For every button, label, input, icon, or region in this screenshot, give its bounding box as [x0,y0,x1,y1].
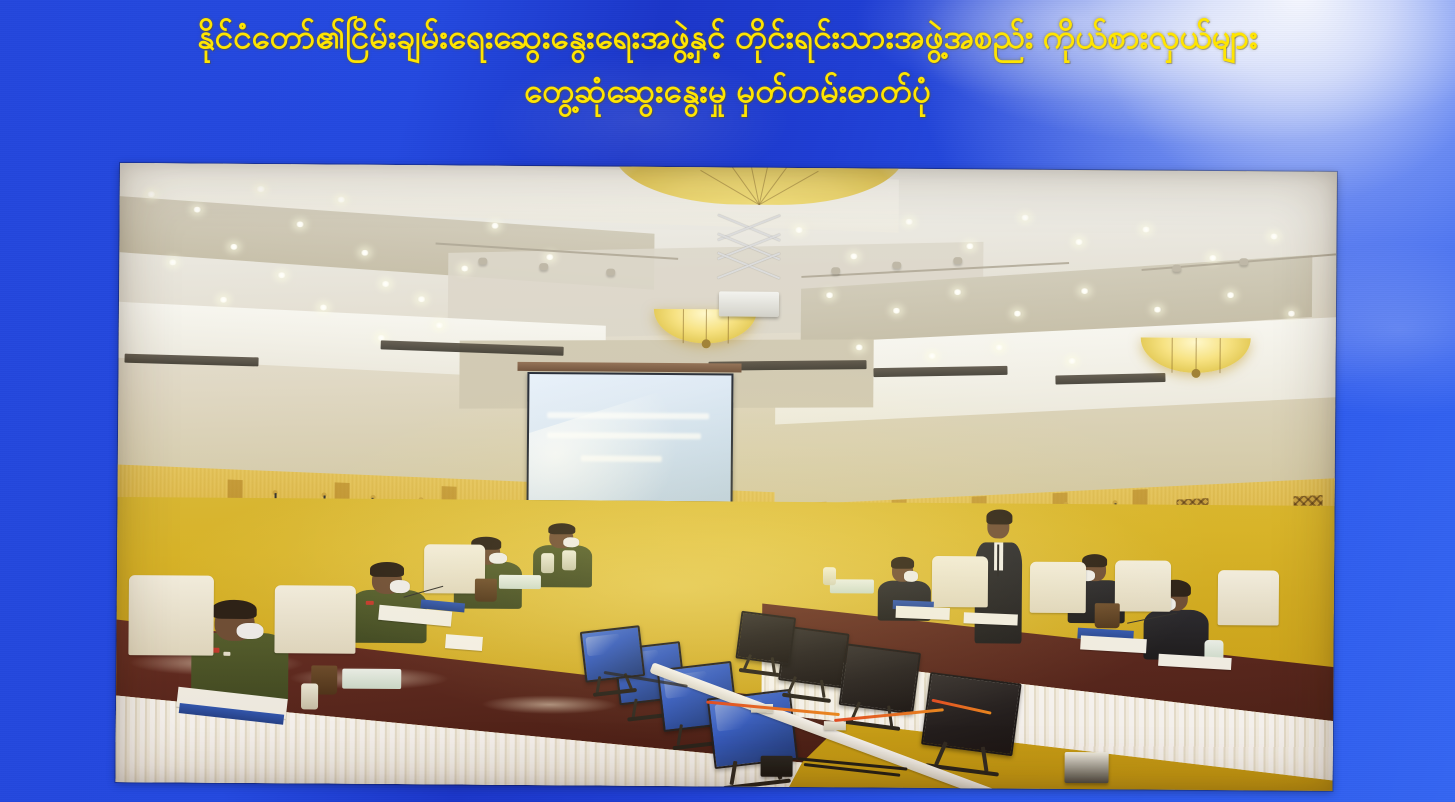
face-mask [563,537,579,547]
poster-root: နိုင်ငံတော်၏ငြိမ်းချမ်းရေးဆွေးနွေးရေးအဖွ… [0,0,1455,802]
chair [129,575,215,656]
face-mask [389,580,410,593]
water-bottle [823,567,837,586]
tissue-box [830,579,874,593]
chair [1029,562,1085,613]
dome-lamp-spokes [613,163,906,206]
pendant-chandelier-right [1141,338,1251,373]
face-mask [489,552,508,563]
track-spotlight [1172,265,1181,272]
title-line-1: နိုင်ငံတော်၏ငြိမ်းချမ်းရေးဆွေးနွေးရေးအဖွ… [0,16,1455,58]
face-mask [237,622,264,639]
face-mask [904,571,918,581]
downlight [491,223,500,229]
downlight [336,197,345,203]
downlight [995,344,1004,350]
floor-cable-junction [824,722,846,731]
downlight [892,307,901,313]
downlight [1020,214,1029,220]
downlight [1142,226,1151,232]
downlight [168,259,177,265]
track-spotlight [831,267,840,274]
ceiling-projector [719,292,779,317]
thermos-mug [1095,603,1120,628]
chair [275,585,356,654]
track-spotlight [478,257,487,264]
track-spotlight [539,263,548,270]
page-title: နိုင်ငံတော်၏ငြိမ်းချမ်းရေးဆွေးနွေးရေးအဖွ… [0,16,1455,111]
downlight [855,344,864,350]
equipment-case [1065,752,1109,783]
downlight [825,292,834,298]
monitor-blue-4 [580,625,643,697]
chair [1115,560,1171,611]
meeting-photograph [115,163,1337,791]
downlight [147,191,156,197]
title-line-2: တွေ့ဆုံဆွေးနွေးမှု မှတ်တမ်းဓာတ်ပုံ [0,70,1455,112]
tissue-box [499,574,540,589]
chair [1218,570,1279,626]
projection-screen [526,371,733,503]
tissue-box [343,669,402,689]
photo-scene [115,163,1337,791]
water-bottle [562,550,576,570]
track-spotlight [953,257,962,264]
projector-scissor-lift [715,223,783,316]
downlight [1080,288,1089,294]
track-spotlight [606,268,615,275]
dome-pendant-lamp [613,163,906,206]
downlight [1270,233,1279,239]
downlight [319,304,328,310]
downlight [953,289,962,295]
downlight [1209,255,1218,261]
equipment-case [761,756,793,777]
monitor-dark-3 [918,672,1017,778]
document-stack [895,606,949,621]
downlight [545,254,554,260]
downlight [905,218,914,224]
chair [932,556,988,607]
downlight [219,297,228,303]
water-bottle [541,554,555,574]
track-spotlight [1239,258,1248,265]
monitor-dark-4 [733,610,792,677]
thermos-mug [475,579,497,601]
water-bottle [301,683,318,709]
track-spotlight [892,262,901,269]
